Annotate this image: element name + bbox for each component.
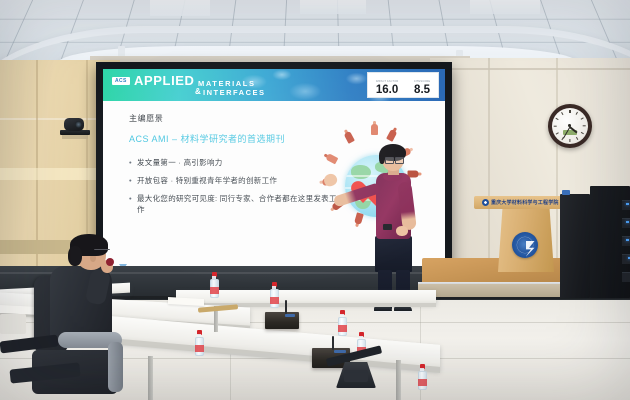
presentation-clicker <box>383 224 392 230</box>
clock-tick <box>554 125 557 126</box>
university-emblem-icon <box>512 232 538 258</box>
water-bottle <box>210 272 219 298</box>
clock-tick <box>581 117 584 120</box>
clock-tick <box>561 112 564 115</box>
clock-face <box>552 108 588 144</box>
water-bottle <box>270 282 279 308</box>
microphone-stem <box>285 300 287 314</box>
rack-unit <box>622 254 630 264</box>
bullet-text: 最大化您的研究可见度: 同行专家、合作者都在这里发表工作 <box>137 193 337 215</box>
rack-cabinet-right <box>590 186 630 298</box>
held-snack <box>106 258 114 266</box>
banner-word-applied: APPLIED <box>134 74 195 88</box>
microphone-stem <box>332 336 334 350</box>
person-figure-icon <box>371 121 378 135</box>
rack-cabinet-left <box>560 194 590 298</box>
metric-impact-factor: IMPACT FACTOR 16.0 <box>376 81 399 96</box>
bottle-label <box>210 287 219 294</box>
rack-indicator <box>562 190 570 195</box>
slide-title: 主编愿景 <box>129 113 163 124</box>
table-leg <box>396 360 401 400</box>
person-figure-icon <box>386 126 399 142</box>
journal-metrics-box: IMPACT FACTOR 16.0 CITESCORE 8.5 <box>367 72 439 98</box>
banner-word-interfaces: INTERFACES <box>203 88 266 97</box>
clock-tick <box>556 132 559 135</box>
microphone-base-face <box>344 370 368 382</box>
list-item: • 发文量第一 · 高引影响力 <box>129 157 337 168</box>
metric-citescore: CITESCORE 8.5 <box>414 81 430 96</box>
lectern-plate-seal-icon <box>482 199 489 206</box>
metric-value: 8.5 <box>414 85 430 97</box>
lectern-plate-text: 重庆大学材料科学与工程学院 <box>491 199 559 206</box>
glasses-icon <box>94 249 110 254</box>
conference-room-screenshot: ACS APPLIED MATERIALS & INTERFACES IMPAC… <box>0 0 630 400</box>
ceiling-light-panel <box>150 0 210 16</box>
presenter-person <box>352 146 430 306</box>
status-led <box>626 239 629 241</box>
water-bottle <box>418 364 427 390</box>
presenter-shoe <box>374 306 392 313</box>
clock-tick <box>583 125 586 126</box>
console-indicator <box>334 350 346 353</box>
lectern-name-plate: 重庆大学材料科学与工程学院 <box>482 198 570 207</box>
ceiling-light-panel <box>300 0 366 14</box>
slide-banner: ACS APPLIED MATERIALS & INTERFACES IMPAC… <box>103 69 445 101</box>
av-equipment-rack <box>560 186 630 306</box>
chair-armrest-post <box>108 342 123 392</box>
console-indicator <box>285 314 295 317</box>
status-led <box>626 203 629 205</box>
emblem-glyph <box>526 241 535 257</box>
banner-ampersand: & <box>195 87 201 96</box>
clock-tick <box>576 112 579 115</box>
slide-bullet-list: • 发文量第一 · 高引影响力 • 开放包容 · 特别重视青年学者的创新工作 •… <box>129 157 337 222</box>
clock-tick <box>569 110 570 113</box>
bullet-marker: • <box>129 157 137 168</box>
water-bottle <box>338 310 347 336</box>
microphone-console[interactable] <box>265 312 299 329</box>
acs-logo-mark: ACS <box>112 77 130 85</box>
rack-unit <box>622 272 630 282</box>
bullet-marker: • <box>129 175 137 186</box>
presenter-right-hand <box>396 226 408 236</box>
bottle-label <box>270 297 279 304</box>
slide-subtitle: ACS AMI – 材料学研究者的首选期刊 <box>129 132 285 145</box>
rack-unit <box>622 200 630 210</box>
person-figure-icon <box>323 152 339 165</box>
bottle-label <box>418 379 427 386</box>
chair-cushion <box>0 314 26 334</box>
clock-tick <box>576 137 579 140</box>
metric-value: 16.0 <box>376 85 399 97</box>
status-led <box>626 221 629 223</box>
table-leg <box>148 356 153 400</box>
bullet-text: 发文量第一 · 高引影响力 <box>137 157 337 168</box>
bottle-label <box>338 325 347 332</box>
presenter-skirt <box>375 236 412 272</box>
banner-word-materials: MATERIALS <box>198 79 256 88</box>
ptz-camera <box>60 118 90 140</box>
camera-lens-icon <box>75 121 82 128</box>
camera-body <box>64 118 84 131</box>
person-figure-icon <box>342 128 355 144</box>
water-bottle <box>195 330 204 356</box>
ceiling-light-panel <box>470 0 540 14</box>
emblem-inner-disc <box>517 237 533 253</box>
list-item: • 开放包容 · 特别重视青年学者的创新工作 <box>129 175 337 186</box>
wall-clock <box>548 104 592 148</box>
rack-unit <box>622 236 630 246</box>
bullet-marker: • <box>129 193 137 215</box>
presenter-shoe <box>394 306 412 313</box>
list-item: • 最大化您的研究可见度: 同行专家、合作者都在这里发表工作 <box>129 193 337 215</box>
acs-logo-text: ACS <box>115 78 127 84</box>
bullet-text: 开放包容 · 特别重视青年学者的创新工作 <box>137 175 337 186</box>
bottle-label <box>195 345 204 352</box>
rack-unit <box>622 218 630 228</box>
attendee-hair-side <box>68 246 82 266</box>
clock-tick <box>556 117 559 120</box>
glasses-icon <box>385 157 402 162</box>
clock-tick <box>581 132 584 135</box>
clock-tick <box>569 139 570 142</box>
panel-seam <box>430 68 630 70</box>
